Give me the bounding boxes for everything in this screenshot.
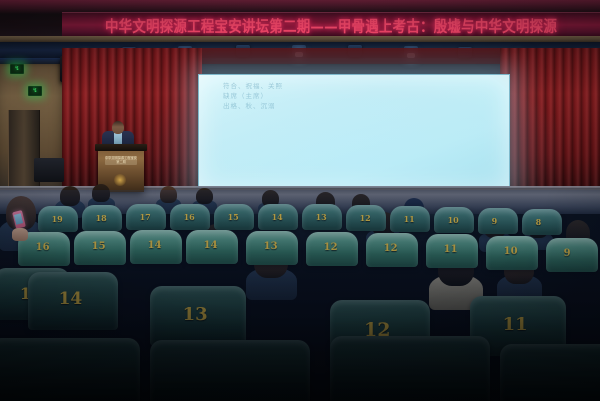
- seat[interactable]: [0, 338, 140, 401]
- seat[interactable]: 16: [170, 204, 210, 230]
- seat[interactable]: 13: [302, 204, 342, 230]
- seat[interactable]: 13: [150, 286, 246, 346]
- seat[interactable]: 15: [214, 204, 254, 230]
- seat-number: 9: [564, 248, 571, 259]
- seat-number: 15: [228, 212, 239, 222]
- seat-number: 18: [96, 213, 107, 223]
- seat-number: 9: [492, 216, 498, 226]
- exit-sign-lower: ↯: [28, 86, 42, 96]
- attendee-head-3: [160, 186, 177, 203]
- screen-line-1: 符合、祝福、关照: [223, 82, 283, 91]
- seat-number: 12: [324, 242, 338, 253]
- seat-number: 10: [448, 215, 459, 225]
- seat[interactable]: 14: [130, 230, 182, 264]
- seat-number: 14: [204, 240, 218, 251]
- seat-number: 19: [52, 214, 63, 224]
- seat[interactable]: [330, 336, 490, 401]
- seat-number: 16: [184, 212, 195, 222]
- seat-number: 12: [360, 213, 371, 223]
- seat-number: 14: [272, 212, 283, 222]
- lectern-nameplate: 中华文明探源工程宝安讲坛 第二期: [105, 156, 137, 165]
- stage-monitor-speaker: [34, 158, 64, 182]
- seat[interactable]: 9: [546, 238, 598, 272]
- seat[interactable]: 10: [434, 207, 474, 233]
- seat-number: 15: [92, 241, 106, 252]
- stage-curtain-right: [500, 48, 600, 200]
- led-banner-text: 中华文明探源工程宝安讲坛第二期——甲骨遇上考古：殷墟与中华文明探源: [105, 14, 557, 36]
- presenter-head: [112, 121, 124, 134]
- lectern-emblem: [114, 174, 126, 186]
- projection-screen-text: 符合、祝福、关照 缺席（主席） 出格、秋、沉溺: [223, 82, 283, 112]
- exit-sign-upper-glyph: ↯: [14, 66, 19, 72]
- seat[interactable]: 12: [366, 233, 418, 267]
- seat[interactable]: 19: [38, 206, 78, 232]
- seat[interactable]: 10: [486, 236, 538, 270]
- seat[interactable]: [500, 344, 600, 401]
- seat-number: 13: [264, 241, 278, 252]
- seat-number: 14: [148, 240, 162, 251]
- screen-line-3: 出格、秋、沉溺: [223, 102, 283, 111]
- lectern-nameplate-line2: 第二期: [105, 160, 137, 164]
- seat[interactable]: 14: [186, 230, 238, 264]
- seat[interactable]: 12: [346, 205, 386, 231]
- seat[interactable]: 17: [126, 204, 166, 230]
- seat[interactable]: 8: [522, 209, 562, 235]
- screen-line-2: 缺席（主席）: [223, 92, 283, 101]
- seat-number: 11: [404, 214, 415, 224]
- auditorium-photo: 中华文明探源工程宝安讲坛第二期——甲骨遇上考古：殷墟与中华文明探源 ↯ ↯ 符合…: [0, 0, 600, 401]
- seat[interactable]: 14: [258, 204, 298, 230]
- seat-number: 11: [444, 244, 458, 255]
- seat-number: 10: [504, 246, 518, 257]
- seat[interactable]: 15: [74, 231, 126, 265]
- attendee-head-1: [60, 186, 80, 206]
- lectern-desktop: [95, 144, 147, 151]
- hall-side-door[interactable]: [8, 110, 40, 198]
- seat-number: 8: [536, 217, 542, 227]
- seat[interactable]: 11: [426, 234, 478, 268]
- seat[interactable]: 12: [306, 232, 358, 266]
- projection-screen: 符合、祝福、关照 缺席（主席） 出格、秋、沉溺: [198, 74, 510, 190]
- seat-number: 13: [316, 212, 327, 222]
- seat-number: 11: [503, 314, 528, 335]
- exit-sign-upper: ↯: [10, 64, 24, 74]
- exit-sign-lower-glyph: ↯: [32, 88, 37, 94]
- seat[interactable]: 14: [28, 272, 118, 330]
- seat-number: 17: [140, 212, 151, 222]
- seat-number: 12: [384, 243, 398, 254]
- seat[interactable]: 9: [478, 208, 518, 234]
- seat-number: 14: [59, 289, 83, 309]
- attendee-head-2: [92, 184, 110, 202]
- seat[interactable]: 18: [82, 205, 122, 231]
- seat-number: 16: [36, 242, 50, 253]
- seat[interactable]: [150, 340, 310, 401]
- attendee-head-4: [196, 188, 213, 204]
- led-banner: 中华文明探源工程宝安讲坛第二期——甲骨遇上考古：殷墟与中华文明探源: [62, 12, 600, 38]
- seat-number: 13: [183, 304, 208, 325]
- seat[interactable]: 11: [390, 206, 430, 232]
- photographer-hand: [12, 228, 28, 241]
- seat[interactable]: 13: [246, 231, 298, 265]
